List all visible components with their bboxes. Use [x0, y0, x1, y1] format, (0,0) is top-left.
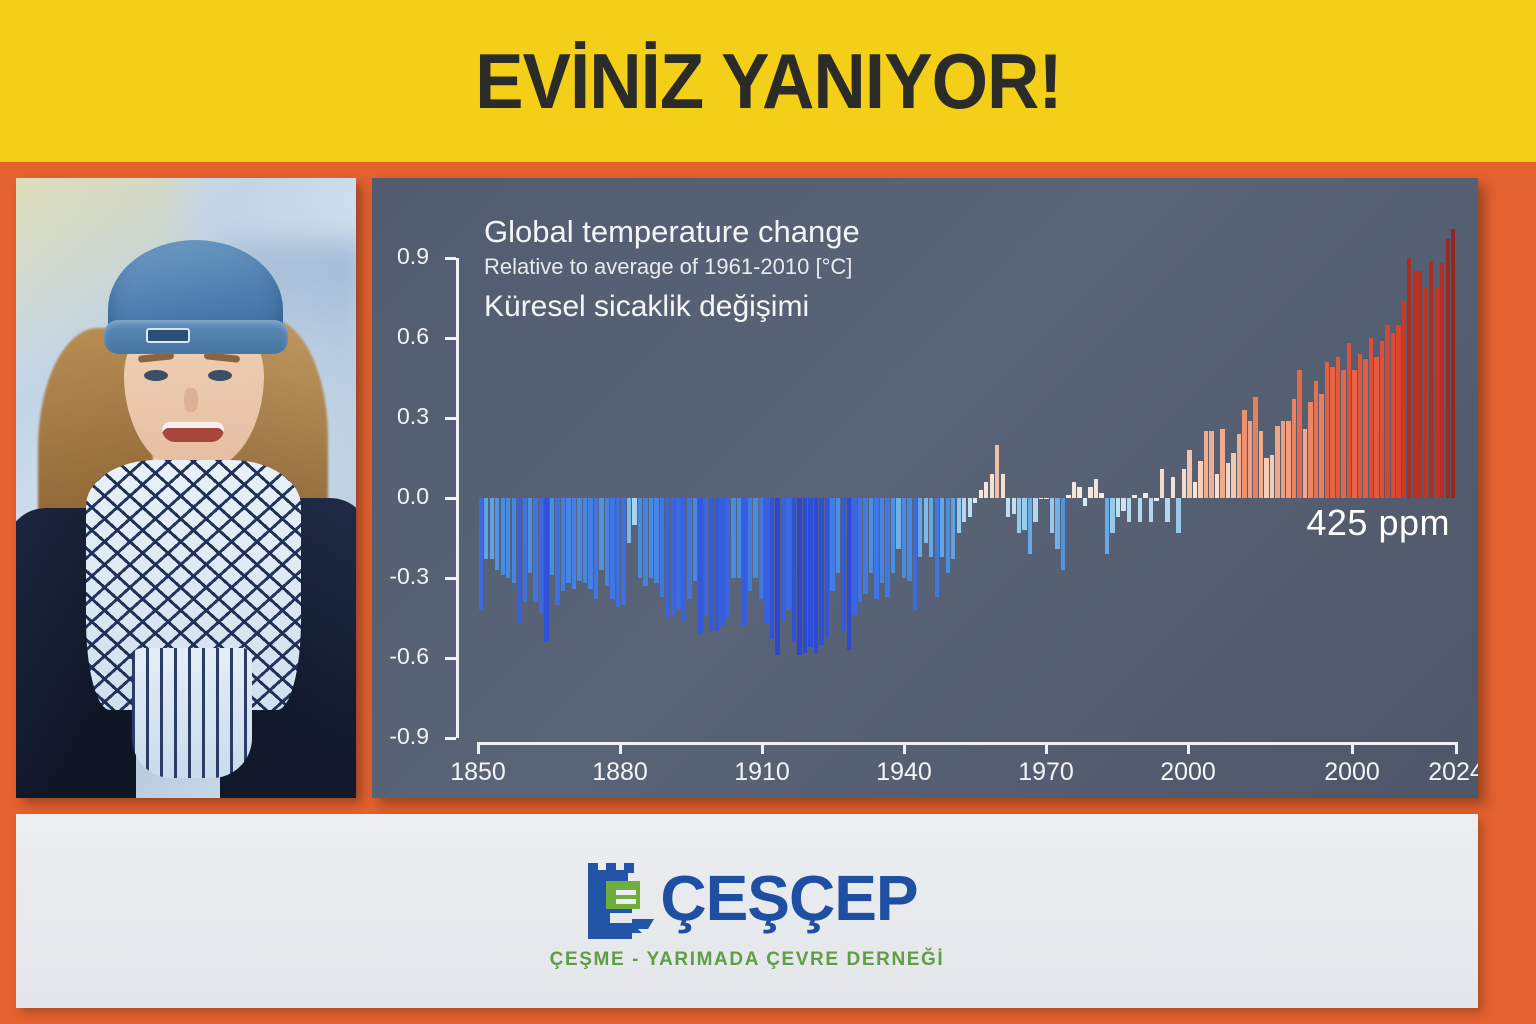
- bar: [566, 498, 570, 583]
- bar: [836, 498, 840, 573]
- bar: [1050, 498, 1054, 533]
- bar: [968, 498, 972, 517]
- bar: [1165, 498, 1169, 522]
- bar: [781, 498, 785, 621]
- keffiyeh-scarf-tail: [132, 648, 252, 778]
- logo-row: ÇEŞÇEP: [576, 855, 917, 941]
- bar: [572, 498, 576, 589]
- bar: [731, 498, 735, 578]
- x-tick: [1187, 742, 1190, 754]
- bar: [1149, 498, 1153, 522]
- bar: [1171, 477, 1175, 498]
- bar: [742, 498, 746, 626]
- bar: [1435, 287, 1439, 498]
- bar: [990, 474, 994, 498]
- bar: [775, 498, 779, 655]
- bar: [863, 498, 867, 594]
- bar: [671, 498, 675, 615]
- bar: [1451, 229, 1455, 498]
- y-tick: -0.9: [445, 737, 456, 740]
- bar: [1061, 498, 1065, 570]
- bar: [649, 498, 653, 578]
- bar: [858, 498, 862, 602]
- bar: [682, 498, 686, 621]
- bar: [1429, 261, 1433, 498]
- bar: [962, 498, 966, 522]
- bar: [1418, 271, 1422, 498]
- bar: [1226, 463, 1230, 498]
- bar: [1336, 357, 1340, 498]
- bar: [1209, 431, 1213, 498]
- bar: [687, 498, 691, 599]
- bar: [907, 498, 911, 581]
- bar: [638, 498, 642, 578]
- bar: [528, 498, 532, 573]
- bar: [1264, 458, 1268, 498]
- bar: [1017, 498, 1021, 533]
- bar: [1116, 498, 1120, 517]
- y-tick: 0.9: [445, 257, 456, 260]
- bar: [676, 498, 680, 610]
- bar: [588, 498, 592, 589]
- bar: [1369, 338, 1373, 498]
- bar: [495, 498, 499, 570]
- bar: [1105, 498, 1109, 554]
- bar: [1270, 455, 1274, 498]
- x-tick-label: 2000: [1160, 758, 1216, 787]
- bar: [792, 498, 796, 642]
- bar: [1308, 402, 1312, 498]
- bar: [610, 498, 614, 599]
- bar: [852, 498, 856, 615]
- x-tick-label: 2000: [1324, 758, 1380, 787]
- bar: [1325, 362, 1329, 498]
- bar: [709, 498, 713, 631]
- bar: [484, 498, 488, 559]
- bar: [550, 498, 554, 575]
- x-axis-line: [478, 742, 1456, 745]
- bar: [665, 498, 669, 618]
- bar: [1259, 431, 1263, 498]
- bar: [924, 498, 928, 543]
- bar: [577, 498, 581, 581]
- x-tick: [477, 742, 480, 754]
- bar: [1374, 357, 1378, 498]
- bar: [1253, 397, 1257, 498]
- bar: [643, 498, 647, 586]
- bar: [533, 498, 537, 602]
- x-tick-label: 1880: [592, 758, 648, 787]
- bar: [1193, 482, 1197, 498]
- bar: [1204, 431, 1208, 498]
- bar: [616, 498, 620, 607]
- bar: [704, 498, 708, 615]
- bar: [1446, 239, 1450, 498]
- bar: [891, 498, 895, 573]
- x-tick-label: 1940: [876, 758, 932, 787]
- bar: [1314, 381, 1318, 498]
- logo-wrap: ÇEŞÇEP ÇEŞME - YARIMADA ÇEVRE DERNEĞİ: [550, 855, 945, 971]
- bar: [654, 498, 658, 583]
- bar: [929, 498, 933, 557]
- bar: [1424, 287, 1428, 498]
- bar: [720, 498, 724, 626]
- bar: [1066, 495, 1070, 498]
- bar: [506, 498, 510, 578]
- bar: [1160, 469, 1164, 498]
- bar: [726, 498, 730, 618]
- bar: [1391, 333, 1395, 498]
- bar: [814, 498, 818, 653]
- bar: [1121, 498, 1125, 511]
- bar: [797, 498, 801, 655]
- x-tick-label: 1850: [450, 758, 506, 787]
- temperature-chart-panel: Global temperature change Relative to av…: [372, 178, 1478, 798]
- bar: [1231, 453, 1235, 498]
- bar: [819, 498, 823, 645]
- poster-header: EVİNİZ YANIYOR!: [0, 0, 1536, 162]
- bar: [1138, 498, 1142, 522]
- bar: [1187, 450, 1191, 498]
- bar: [523, 498, 527, 602]
- bar: [759, 498, 763, 599]
- bar: [1297, 370, 1301, 498]
- y-tick-label: 0.9: [397, 242, 429, 269]
- bar: [764, 498, 768, 623]
- eye-right: [208, 370, 232, 381]
- bar: [715, 498, 719, 631]
- bar: [1028, 498, 1032, 554]
- bar: [979, 490, 983, 498]
- bar: [940, 498, 944, 557]
- bar: [1154, 498, 1158, 501]
- bar: [1237, 434, 1241, 498]
- bar: [808, 498, 812, 647]
- y-tick-label: 0.3: [397, 402, 429, 429]
- x-tick: [903, 742, 906, 754]
- bar: [1303, 429, 1307, 498]
- y-axis-line: [456, 258, 459, 738]
- bar: [1413, 271, 1417, 498]
- bar: [517, 498, 521, 623]
- bar: [748, 498, 752, 591]
- bar: [1215, 474, 1219, 498]
- bar: [1363, 359, 1367, 498]
- bar: [1198, 461, 1202, 498]
- bar: [770, 498, 774, 639]
- bar: [1358, 354, 1362, 498]
- y-tick: -0.3: [445, 577, 456, 580]
- bar: [1033, 498, 1037, 522]
- bar: [951, 498, 955, 559]
- bar: [1176, 498, 1180, 533]
- bar: [1352, 370, 1356, 498]
- y-tick: 0.3: [445, 417, 456, 420]
- bar: [1242, 410, 1246, 498]
- bar: [1402, 301, 1406, 498]
- mouth: [162, 422, 224, 442]
- y-tick-label: -0.6: [389, 642, 429, 669]
- bar: [957, 498, 961, 533]
- y-tick: -0.6: [445, 657, 456, 660]
- bar: [1407, 258, 1411, 498]
- bar: [555, 498, 559, 605]
- poster-body: Global temperature change Relative to av…: [0, 162, 1536, 1024]
- bar: [1044, 498, 1048, 499]
- y-tick: 0.6: [445, 337, 456, 340]
- bar: [698, 498, 702, 634]
- bar: [583, 498, 587, 583]
- y-tick: 0.0: [445, 497, 456, 500]
- bar: [693, 498, 697, 581]
- bar: [1055, 498, 1059, 549]
- bar: [995, 445, 999, 498]
- bar: [1001, 474, 1005, 498]
- bar: [479, 498, 483, 610]
- bar: [1330, 367, 1334, 498]
- bar: [539, 498, 543, 613]
- bar: [830, 498, 834, 591]
- bar: [1341, 370, 1345, 498]
- bar: [1110, 498, 1114, 533]
- logo-tagline: ÇEŞME - YARIMADA ÇEVRE DERNEĞİ: [550, 949, 945, 971]
- bar: [885, 498, 889, 597]
- bar: [902, 498, 906, 578]
- bar: [1099, 493, 1103, 498]
- bar: [825, 498, 829, 637]
- x-tick-label: 1910: [734, 758, 790, 787]
- y-tick-label: -0.3: [389, 562, 429, 589]
- bar: [1281, 421, 1285, 498]
- y-tick-label: 0.0: [397, 482, 429, 509]
- bar: [869, 498, 873, 573]
- chart-title: Global temperature change: [484, 214, 860, 250]
- bar: [1022, 498, 1026, 530]
- eye-left: [144, 370, 168, 381]
- castle-tower-icon: [576, 855, 662, 941]
- y-tick-label: 0.6: [397, 322, 429, 349]
- bar: [1083, 498, 1087, 506]
- bar: [918, 498, 922, 557]
- x-tick: [761, 742, 764, 754]
- bar: [1248, 421, 1252, 498]
- bar: [946, 498, 950, 573]
- bar: [880, 498, 884, 583]
- bar: [1143, 493, 1147, 498]
- bar: [1077, 487, 1081, 498]
- y-tick-label: -0.9: [389, 722, 429, 749]
- bar: [973, 498, 977, 503]
- logo-wordmark: ÇEŞÇEP: [660, 866, 917, 930]
- organization-logo-panel: ÇEŞÇEP ÇEŞME - YARIMADA ÇEVRE DERNEĞİ: [16, 814, 1478, 1008]
- x-tick: [619, 742, 622, 754]
- bar: [1220, 429, 1224, 498]
- bar: [512, 498, 516, 583]
- bar: [1292, 399, 1296, 498]
- bar: [490, 498, 494, 559]
- bar: [544, 498, 548, 642]
- beanie-brim: [104, 320, 288, 354]
- page-title: EVİNİZ YANIYOR!: [475, 36, 1062, 127]
- climate-activist-portrait: [16, 178, 356, 798]
- bar: [1275, 426, 1279, 498]
- bar: [501, 498, 505, 575]
- bar: [1094, 479, 1098, 498]
- bar: [660, 498, 664, 597]
- bar: [627, 498, 631, 543]
- bar: [1132, 495, 1136, 498]
- bar: [561, 498, 565, 591]
- bar: [737, 498, 741, 578]
- bar: [1396, 325, 1400, 498]
- bar: [874, 498, 878, 599]
- bar: [605, 498, 609, 586]
- bar: [913, 498, 917, 610]
- bar: [1012, 498, 1016, 514]
- portrait-image: [16, 178, 356, 798]
- bar: [1127, 498, 1131, 522]
- x-tick-label: 2024: [1428, 758, 1478, 787]
- bar: [632, 498, 636, 525]
- bar: [803, 498, 807, 653]
- nose: [184, 388, 198, 412]
- bar: [621, 498, 625, 605]
- bar: [896, 498, 900, 549]
- bar: [1088, 487, 1092, 498]
- bar: [1347, 343, 1351, 498]
- bar: [847, 498, 851, 650]
- x-tick: [1455, 742, 1458, 754]
- beanie-brand-tag: [146, 328, 190, 343]
- bar: [1319, 394, 1323, 498]
- bar: [1039, 498, 1043, 499]
- bar: [1385, 325, 1389, 498]
- bar: [599, 498, 603, 570]
- bar: [1440, 263, 1444, 498]
- bar-series: [478, 258, 1456, 738]
- plot-area: 0.90.60.30.0-0.3-0.6-0.9 185018801910194…: [456, 258, 1456, 738]
- bar: [786, 498, 790, 610]
- bar: [1182, 469, 1186, 498]
- bar: [935, 498, 939, 597]
- bar: [1286, 421, 1290, 498]
- bar: [594, 498, 598, 599]
- x-tick: [1045, 742, 1048, 754]
- bar: [753, 498, 757, 578]
- x-tick: [1351, 742, 1354, 754]
- bar: [1380, 341, 1384, 498]
- bar: [841, 498, 845, 631]
- bar: [984, 482, 988, 498]
- bar: [1006, 498, 1010, 517]
- bar: [1072, 482, 1076, 498]
- x-tick-label: 1970: [1018, 758, 1074, 787]
